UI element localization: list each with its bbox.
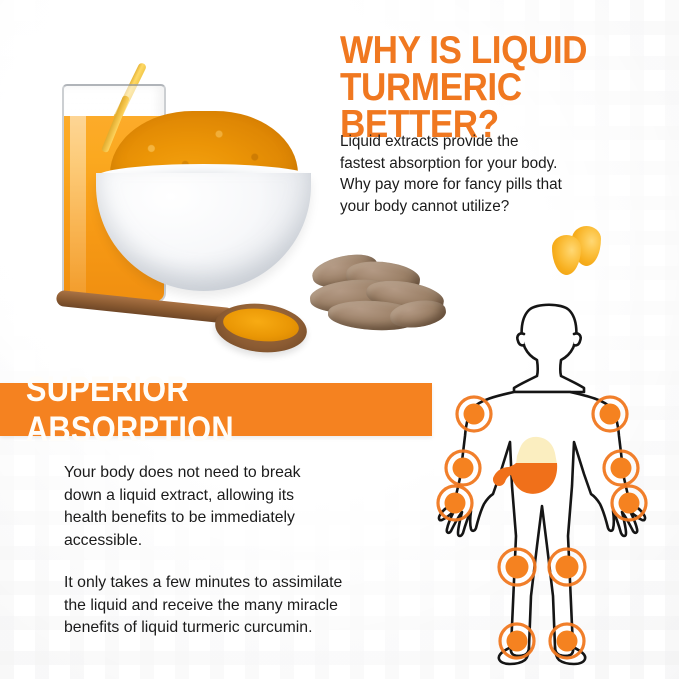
paragraph-2-line-1: It only takes a few minutes to assimilat… xyxy=(64,572,454,595)
infographic-canvas: WHY IS LIQUID TURMERIC BETTER? Liquid ex… xyxy=(0,0,679,679)
paragraph-1: Your body does not need to break down a … xyxy=(64,462,434,552)
paragraph-1-line-3: health benefits to be immediately xyxy=(64,507,434,530)
banner-label: SUPERIOR ABSORPTION xyxy=(26,370,406,450)
headline: WHY IS LIQUID TURMERIC BETTER? xyxy=(340,32,628,143)
body-ear-left xyxy=(517,333,524,345)
droplet-icon xyxy=(552,235,581,275)
superior-absorption-banner: SUPERIOR ABSORPTION xyxy=(0,383,432,436)
paragraph-2-line-3: benefits of liquid turmeric curcumin. xyxy=(64,617,454,640)
liquid-droplets-icon xyxy=(552,222,608,278)
intro-paragraph: Liquid extracts provide the fastest abso… xyxy=(340,131,650,217)
turmeric-product-photo xyxy=(10,18,340,348)
paragraph-1-line-4: accessible. xyxy=(64,530,434,553)
intro-line-1: Liquid extracts provide the xyxy=(340,131,650,153)
paragraph-1-line-2: down a liquid extract, allowing its xyxy=(64,485,434,508)
paragraph-1-line-1: Your body does not need to break xyxy=(64,462,434,485)
intro-line-2: fastest absorption for your body. xyxy=(340,153,650,175)
paragraph-2-line-2: the liquid and receive the many miracle xyxy=(64,595,454,618)
intro-line-3: Why pay more for fancy pills that xyxy=(340,174,650,196)
human-body-joint-diagram xyxy=(424,296,674,671)
body-head-outline xyxy=(514,305,584,392)
headline-line-1: WHY IS LIQUID xyxy=(340,32,628,69)
intro-line-4: your body cannot utilize? xyxy=(340,196,650,218)
body-ear-right xyxy=(574,333,581,345)
paragraph-2: It only takes a few minutes to assimilat… xyxy=(64,572,454,640)
